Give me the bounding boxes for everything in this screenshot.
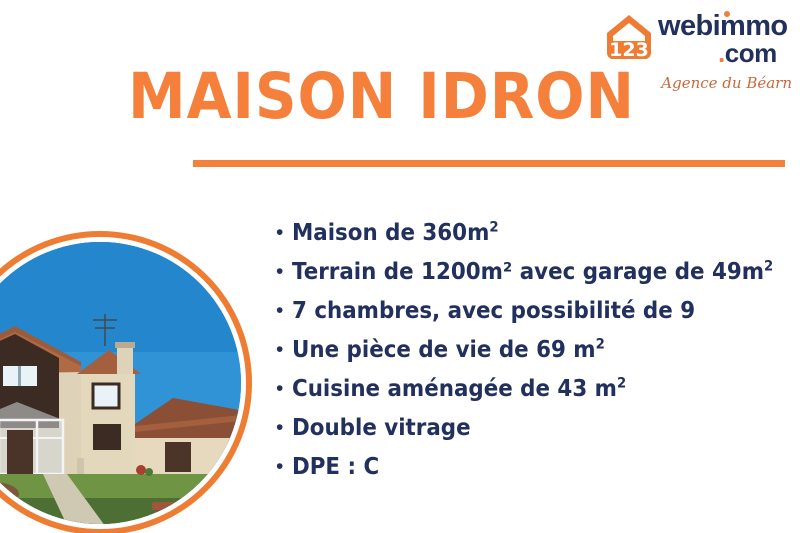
wordmark-i-dot-icon <box>724 11 730 17</box>
property-photo <box>0 242 241 524</box>
superscript: 2 <box>489 219 498 235</box>
superscript: 2 <box>764 258 773 274</box>
superscript: 2 <box>596 336 605 352</box>
list-item: • Cuisine aménagée de 43 m2 <box>272 374 792 413</box>
svg-text:123: 123 <box>609 39 649 61</box>
list-item: • DPE : C <box>272 452 792 491</box>
logo-dot: . <box>718 38 725 68</box>
bullet-icon: • <box>272 218 292 248</box>
logo-dotcom: .com <box>718 40 777 66</box>
list-item: • Terrain de 1200m² avec garage de 49m2 <box>272 257 792 296</box>
property-photo-circle <box>0 231 252 533</box>
list-item: • 7 chambres, avec possibilité de 9 <box>272 296 792 335</box>
bullet-icon: • <box>272 413 292 443</box>
bullet-icon: • <box>272 374 292 404</box>
superscript: 2 <box>617 375 626 391</box>
house-outline-icon: 123 <box>604 12 654 62</box>
bullet-icon: • <box>272 452 292 482</box>
feature-text: Maison de 360m2 <box>292 218 499 248</box>
feature-text: Une pièce de vie de 69 m2 <box>292 335 605 365</box>
feature-text: Cuisine aménagée de 43 m2 <box>292 374 626 404</box>
logo-row: 123 webimmo .com <box>600 10 792 58</box>
feature-text: Terrain de 1200m² avec garage de 49m2 <box>292 257 773 287</box>
logo-wordmark: webimmo <box>658 11 788 41</box>
bullet-icon: • <box>272 296 292 326</box>
bullet-icon: • <box>272 257 292 287</box>
feature-text: 7 chambres, avec possibilité de 9 <box>292 296 695 326</box>
bullet-icon: • <box>272 335 292 365</box>
list-item: • Double vitrage <box>272 413 792 452</box>
page-title: MAISON IDRON <box>128 62 643 132</box>
logo-com-text: com <box>725 38 777 68</box>
feature-text: DPE : C <box>292 452 379 482</box>
list-item: • Maison de 360m2 <box>272 218 792 257</box>
agency-tagline: Agence du Béarn <box>624 74 792 92</box>
orange-divider <box>193 160 785 167</box>
feature-text: Double vitrage <box>292 413 471 443</box>
property-listing-poster: 123 webimmo .com Agence du Béarn MAISON … <box>0 0 800 533</box>
feature-list: • Maison de 360m2 • Terrain de 1200m² av… <box>272 218 792 491</box>
list-item: • Une pièce de vie de 69 m2 <box>272 335 792 374</box>
